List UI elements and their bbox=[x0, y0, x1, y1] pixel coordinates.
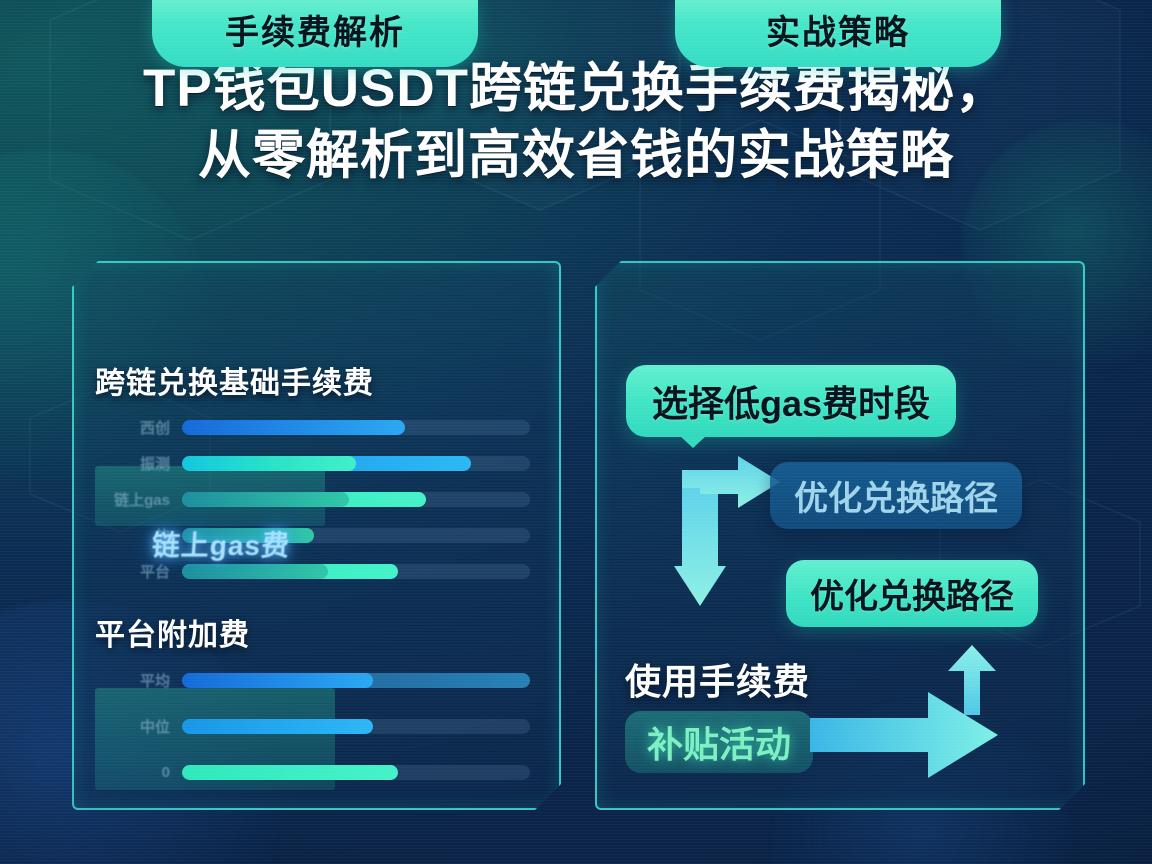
bar-fill bbox=[182, 420, 405, 435]
bar-track bbox=[182, 673, 530, 688]
chart-row: 平均 bbox=[95, 668, 530, 692]
bar-fill bbox=[182, 765, 398, 780]
chart-row: 振测 bbox=[95, 451, 530, 475]
panel-header-fee-breakdown: 手续费解析 bbox=[152, 0, 478, 67]
bar-label: 0 bbox=[95, 764, 182, 781]
bar-label: 中位 bbox=[95, 716, 182, 737]
bar-track bbox=[182, 564, 530, 579]
bar-label: 平均 bbox=[95, 670, 182, 691]
bar-fill-inner bbox=[182, 492, 349, 507]
strategy-pill-optimize-route[interactable]: 优化兑换路径 bbox=[786, 560, 1038, 627]
panel-header-strategy: 实战策略 bbox=[675, 0, 1001, 67]
title-line-1: TP钱包USDT跨链兑换手续费揭秘， bbox=[143, 59, 1009, 118]
chart-row: 西创 bbox=[95, 415, 530, 439]
glow-overlay-label: 链上gas费 bbox=[151, 524, 292, 564]
bar-track bbox=[182, 456, 530, 471]
poster-canvas: TP钱包USDT跨链兑换手续费揭秘， 从零解析到高效省钱的实战策略 手续费解析 … bbox=[0, 0, 1152, 864]
chart-row: 0 bbox=[95, 760, 530, 784]
bar-track bbox=[182, 765, 530, 780]
bar-track bbox=[182, 492, 530, 507]
right-arrow-icon bbox=[810, 690, 1000, 780]
section-title-base-fee: 跨链兑换基础手续费 bbox=[95, 358, 374, 402]
bar-fill bbox=[182, 719, 373, 734]
chart-base-fee: 西创 振测 链上gas 的 平台 bbox=[95, 415, 530, 595]
title-line-2: 从零解析到高效省钱的实战策略 bbox=[0, 123, 1152, 190]
bar-label: 西创 bbox=[95, 417, 182, 438]
section-title-platform-fee: 平台附加费 bbox=[95, 610, 250, 654]
chart-row: 链上gas bbox=[95, 487, 530, 511]
bar-track bbox=[182, 420, 530, 435]
strategy-pill-subsidy[interactable]: 补贴活动 bbox=[625, 711, 813, 773]
page-title: TP钱包USDT跨链兑换手续费揭秘， 从零解析到高效省钱的实战策略 bbox=[0, 56, 1152, 190]
strategy-label-use-fee: 使用手续费 bbox=[625, 653, 810, 705]
chart-row: 中位 bbox=[95, 714, 530, 738]
bar-fill-inner bbox=[182, 456, 356, 471]
strategy-pill-optimize-route-muted[interactable]: 优化兑换路径 bbox=[770, 462, 1022, 529]
bar-fill-inner bbox=[182, 564, 328, 579]
chart-platform-fee: 平均 中位 0 bbox=[95, 668, 530, 806]
bar-label: 振测 bbox=[95, 453, 182, 474]
bar-fill bbox=[182, 673, 373, 688]
strategy-pill-low-gas[interactable]: 选择低gas费时段 bbox=[626, 365, 956, 437]
bar-track bbox=[182, 719, 530, 734]
bar-label: 链上gas bbox=[95, 489, 182, 510]
